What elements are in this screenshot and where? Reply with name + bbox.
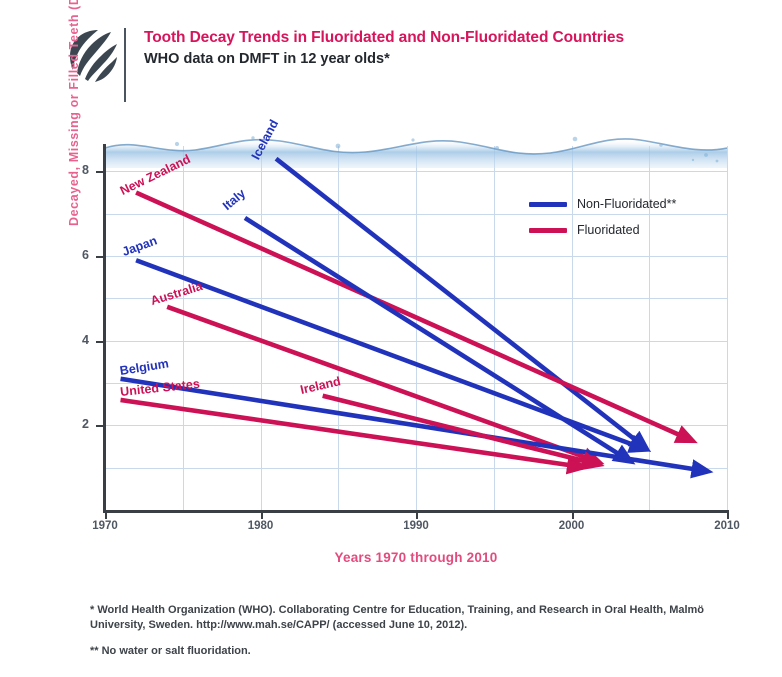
legend-swatch-non-fluoridated [529, 202, 567, 207]
x-tick [261, 510, 263, 519]
legend-label-non-fluoridated: Non-Fluoridated** [577, 197, 676, 211]
x-tick [572, 510, 574, 519]
x-tick-label: 1970 [81, 520, 129, 532]
chart-legend: Non-Fluoridated** Fluoridated [529, 194, 676, 246]
legend-swatch-fluoridated [529, 228, 567, 233]
x-tick [416, 510, 418, 519]
header-divider [124, 28, 126, 102]
gridline-vertical [727, 146, 728, 510]
x-tick [727, 510, 729, 519]
y-tick [96, 341, 104, 343]
y-axis-title: Decayed, Missing or Filled Teeth (DMFT) [67, 0, 81, 226]
footnote-definition: ** No water or salt fluoridation. [90, 644, 750, 659]
series-line-ireland [323, 396, 594, 464]
page-subtitle: WHO data on DMFT in 12 year olds* [144, 50, 764, 68]
x-tick-label: 2000 [548, 520, 596, 532]
y-tick [96, 256, 104, 258]
chart-plot-area: 246819701980199020002010 IcelandNew Zeal… [105, 146, 727, 510]
series-line-united-states [121, 400, 579, 466]
legend-label-fluoridated: Fluoridated [577, 223, 640, 237]
footnotes: * World Health Organization (WHO). Colla… [90, 603, 750, 670]
x-tick-label: 2010 [703, 520, 751, 532]
x-axis-title: Years 1970 through 2010 [105, 550, 727, 565]
y-tick [96, 425, 104, 427]
x-tick-label: 1980 [237, 520, 285, 532]
y-tick-label: 2 [59, 417, 89, 431]
y-tick [96, 171, 104, 173]
y-tick-label: 6 [59, 248, 89, 262]
legend-item-non-fluoridated: Non-Fluoridated** [529, 194, 676, 214]
y-tick-label: 4 [59, 333, 89, 347]
page-header: Tooth Decay Trends in Fluoridated and No… [64, 26, 764, 112]
page-title: Tooth Decay Trends in Fluoridated and No… [144, 28, 764, 47]
legend-item-fluoridated: Fluoridated [529, 220, 676, 240]
x-tick-label: 1990 [392, 520, 440, 532]
footnote-source: * World Health Organization (WHO). Colla… [90, 603, 750, 633]
x-tick [105, 510, 107, 519]
